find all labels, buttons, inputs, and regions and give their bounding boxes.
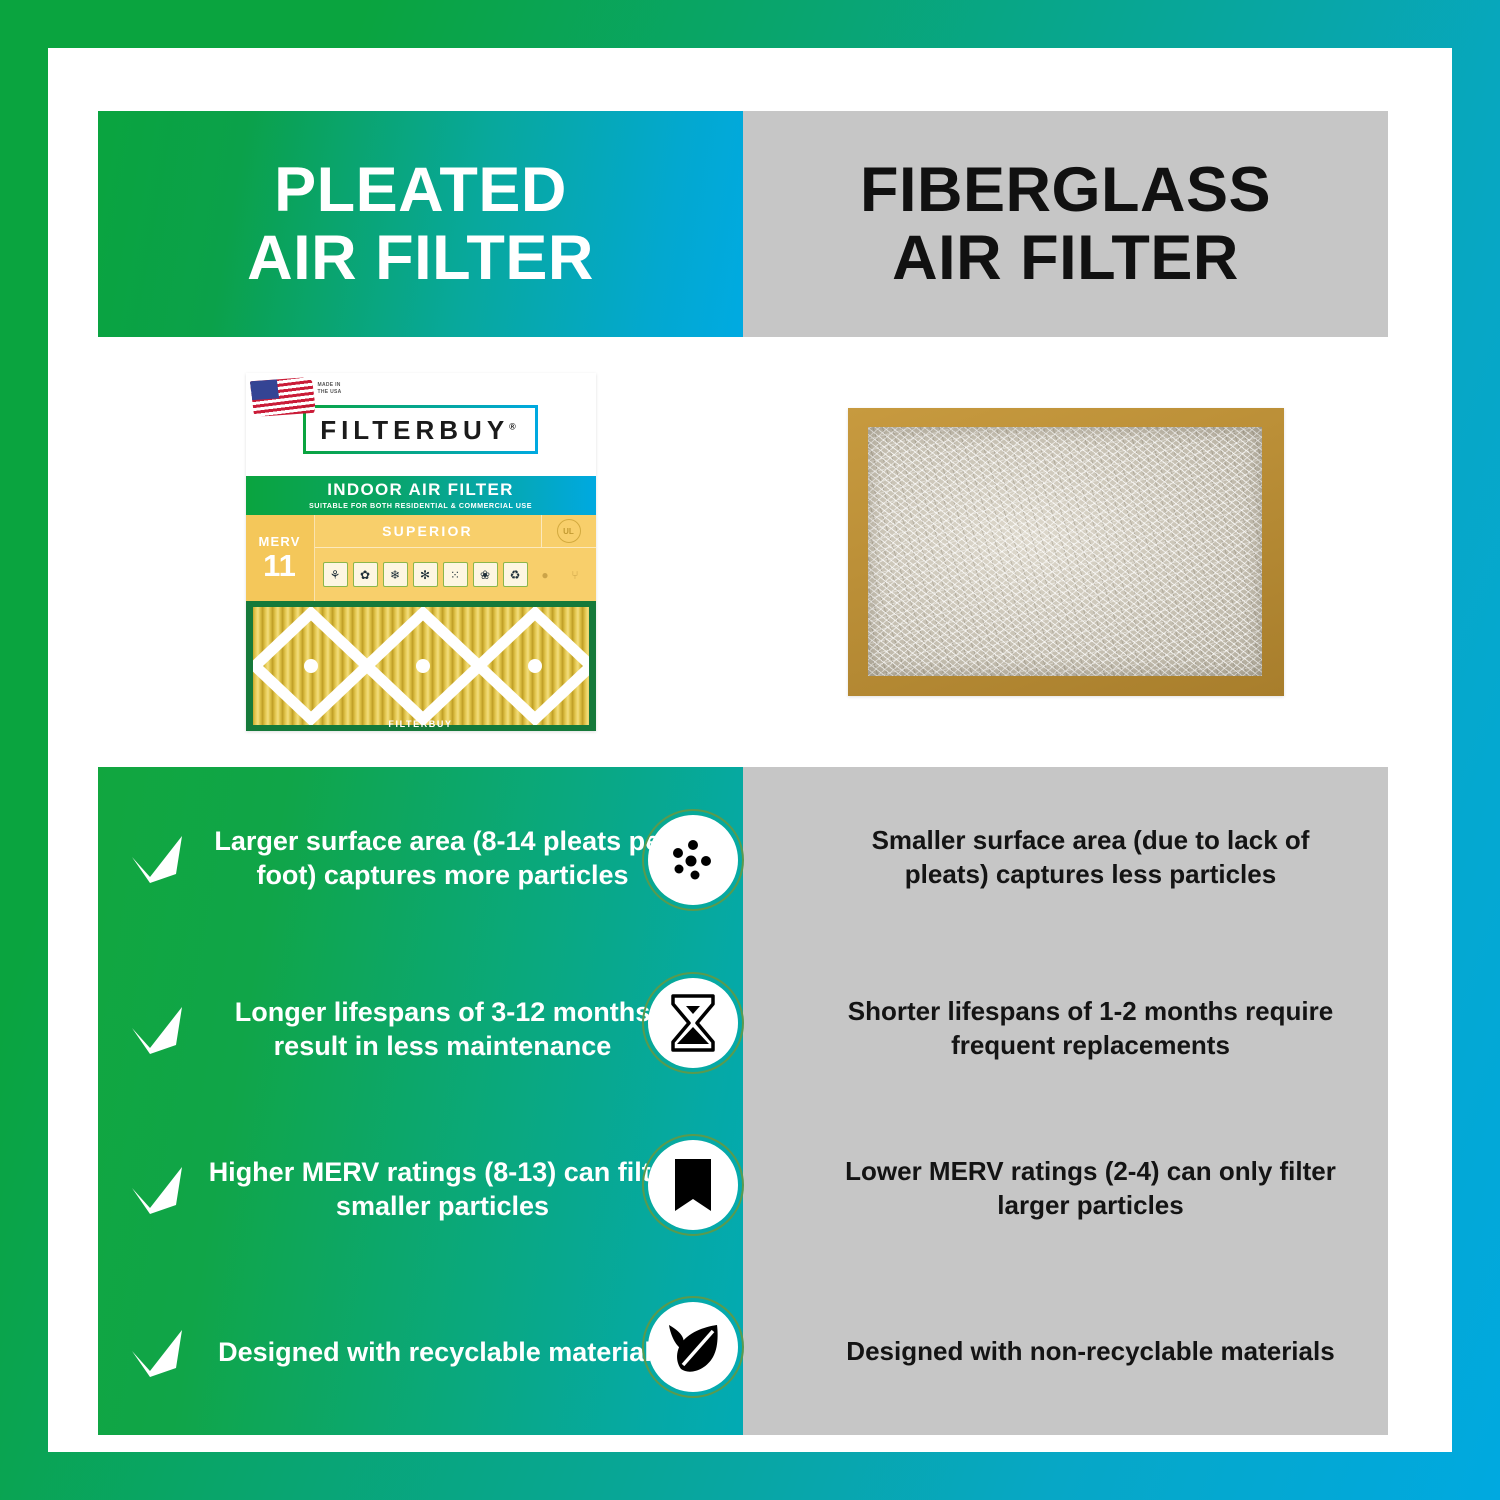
- header-fiberglass-line1: FIBERGLASS: [860, 155, 1271, 225]
- brand-logo-frame: FILTERBUY®: [303, 405, 538, 454]
- brand-logo-text: FILTERBUY®: [320, 417, 521, 443]
- merv-value: 11: [263, 550, 296, 581]
- comparison-row-fiberglass-1: Smaller surface area (due to lack of ple…: [743, 767, 1388, 949]
- header-fiberglass-line2: AIR FILTER: [892, 223, 1239, 293]
- product-cell-fiberglass: [743, 337, 1388, 767]
- comparison-row-fiberglass-4: Designed with non-recyclable materials: [743, 1269, 1388, 1435]
- product-row: MADE IN THE USA FILTERBUY® INDOOR AIR FI…: [98, 337, 1388, 767]
- dust-icon: ⚘: [323, 562, 348, 587]
- comparison-text-fiberglass-3: Lower MERV ratings (2-4) can only filter…: [829, 1155, 1352, 1223]
- pleated-filter-product: MADE IN THE USA FILTERBUY® INDOOR AIR FI…: [246, 373, 596, 731]
- spec-strip-right: SUPERIOR UL ⚘ ✿ ❄ ✻ ⁙: [315, 515, 596, 601]
- band-main-label: INDOOR AIR FILTER: [327, 481, 513, 498]
- feature-icon-strip: ⚘ ✿ ❄ ✻ ⁙ ❀ ♻ ● ⑂: [315, 548, 596, 601]
- check-icon: [128, 1327, 186, 1377]
- smoke-icon: ♻: [503, 562, 528, 587]
- badge-leaf: [642, 1296, 744, 1398]
- comparison-row-fiberglass-3: Lower MERV ratings (2-4) can only filter…: [743, 1109, 1388, 1269]
- ul-certification: UL: [541, 515, 596, 547]
- pleated-media-window: FILTERBUY: [246, 601, 596, 731]
- header-row: PLEATED AIR FILTER FIBERGLASS AIR FILTER: [98, 111, 1388, 337]
- made-in-usa-label: MADE IN THE USA: [318, 382, 342, 396]
- comparison-text-pleated-2: Longer lifespans of 3-12 months result i…: [208, 995, 677, 1063]
- check-icon: [128, 1164, 186, 1214]
- merv-label: MERV: [258, 535, 300, 548]
- hourglass-icon: [648, 978, 738, 1068]
- odor-icon-disabled: ⑂: [563, 562, 588, 587]
- comparison-text-pleated-4: Designed with recyclable materials: [208, 1335, 677, 1369]
- header-pleated-line2: AIR FILTER: [247, 223, 594, 293]
- infographic-canvas: PLEATED AIR FILTER FIBERGLASS AIR FILTER: [48, 48, 1452, 1452]
- comparison-text-fiberglass-4: Designed with non-recyclable materials: [846, 1335, 1334, 1369]
- usa-flag-icon: [249, 377, 315, 417]
- header-pleated: PLEATED AIR FILTER: [98, 111, 743, 337]
- comparison-text-fiberglass-1: Smaller surface area (due to lack of ple…: [829, 824, 1352, 892]
- particles-icon: [648, 815, 738, 905]
- pollen-icon: ✿: [353, 562, 378, 587]
- trademark-symbol: ®: [509, 421, 521, 431]
- header-pleated-line1: PLEATED: [274, 155, 567, 225]
- product-spec-strip: MERV 11 SUPERIOR UL ⚘: [246, 515, 596, 601]
- bacteria-icon: ✻: [413, 562, 438, 587]
- made-in-line2: THE USA: [318, 389, 342, 396]
- virus-icon-disabled: ●: [533, 562, 558, 587]
- badge-particles: [642, 809, 744, 911]
- header-fiberglass: FIBERGLASS AIR FILTER: [743, 111, 1388, 337]
- comparison-text-pleated-3: Higher MERV ratings (8-13) can filter sm…: [208, 1155, 677, 1223]
- band-sub-label: SUITABLE FOR BOTH RESIDENTIAL & COMMERCI…: [309, 501, 532, 510]
- brand-name: FILTERBUY: [320, 415, 509, 445]
- comparison-row-fiberglass-2: Shorter lifespans of 1-2 months require …: [743, 949, 1388, 1109]
- check-icon: [128, 1004, 186, 1054]
- merv-badge: MERV 11: [246, 515, 315, 601]
- product-cell-pleated: MADE IN THE USA FILTERBUY® INDOOR AIR FI…: [98, 337, 743, 767]
- product-box-header: MADE IN THE USA FILTERBUY®: [246, 373, 596, 476]
- header-pleated-title: PLEATED AIR FILTER: [247, 156, 594, 292]
- tier-label: SUPERIOR: [315, 523, 541, 539]
- comparison-text-fiberglass-2: Shorter lifespans of 1-2 months require …: [829, 995, 1352, 1063]
- particles-icon: ⁙: [443, 562, 468, 587]
- tier-line: SUPERIOR UL: [315, 515, 596, 548]
- mold-spores-icon: ❄: [383, 562, 408, 587]
- ul-mark-icon: UL: [557, 519, 581, 543]
- comparison-column-fiberglass: Smaller surface area (due to lack of ple…: [743, 767, 1388, 1435]
- leaf-icon: [648, 1302, 738, 1392]
- product-bottom-brand: FILTERBUY: [246, 719, 596, 729]
- fiberglass-mesh-texture: [868, 427, 1262, 676]
- badge-bookmark: [642, 1134, 744, 1236]
- bookmark-icon: [648, 1140, 738, 1230]
- pet-dander-icon: ❀: [473, 562, 498, 587]
- header-fiberglass-title: FIBERGLASS AIR FILTER: [860, 156, 1271, 292]
- support-grid-icon: [253, 607, 589, 725]
- badge-hourglass: [642, 972, 744, 1074]
- pleat-texture: [253, 607, 589, 725]
- comparison-text-pleated-1: Larger surface area (8-14 pleats per foo…: [208, 824, 677, 892]
- fiberglass-filter-product: [848, 408, 1284, 696]
- made-in-line1: MADE IN: [318, 382, 342, 389]
- infographic-page: PLEATED AIR FILTER FIBERGLASS AIR FILTER: [0, 0, 1500, 1500]
- product-band: INDOOR AIR FILTER SUITABLE FOR BOTH RESI…: [246, 476, 596, 515]
- check-icon: [128, 833, 186, 883]
